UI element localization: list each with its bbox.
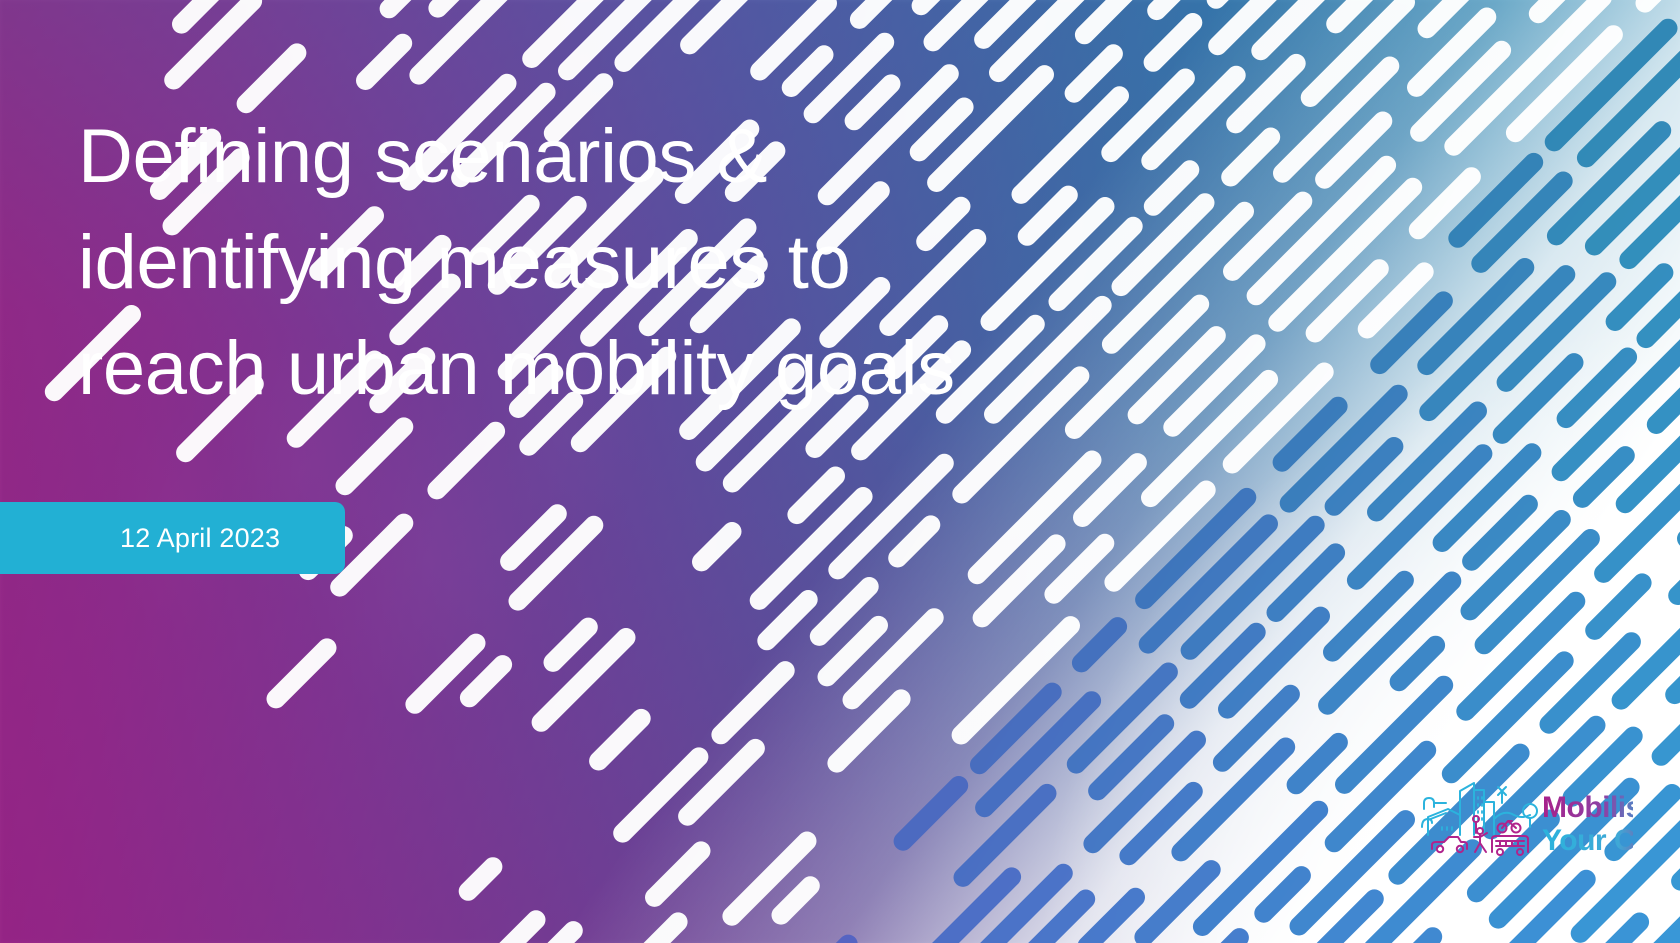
date-text: 12 April 2023 (120, 523, 280, 554)
mobilise-your-city-logo: Mobilise Your City (1418, 757, 1633, 857)
page-title: Defining scenarios & identifying measure… (78, 104, 1188, 422)
title-block: Defining scenarios & identifying measure… (78, 104, 1188, 422)
logo-text-line-2: Your City (1542, 824, 1633, 857)
logo-svg: Mobilise Your City (1418, 757, 1633, 857)
city-transport-pictogram-icon (1422, 783, 1537, 855)
date-badge: 12 April 2023 (0, 502, 345, 574)
logo-text-line-1: Mobilise (1542, 791, 1633, 824)
presentation-slide: Defining scenarios & identifying measure… (0, 0, 1680, 943)
